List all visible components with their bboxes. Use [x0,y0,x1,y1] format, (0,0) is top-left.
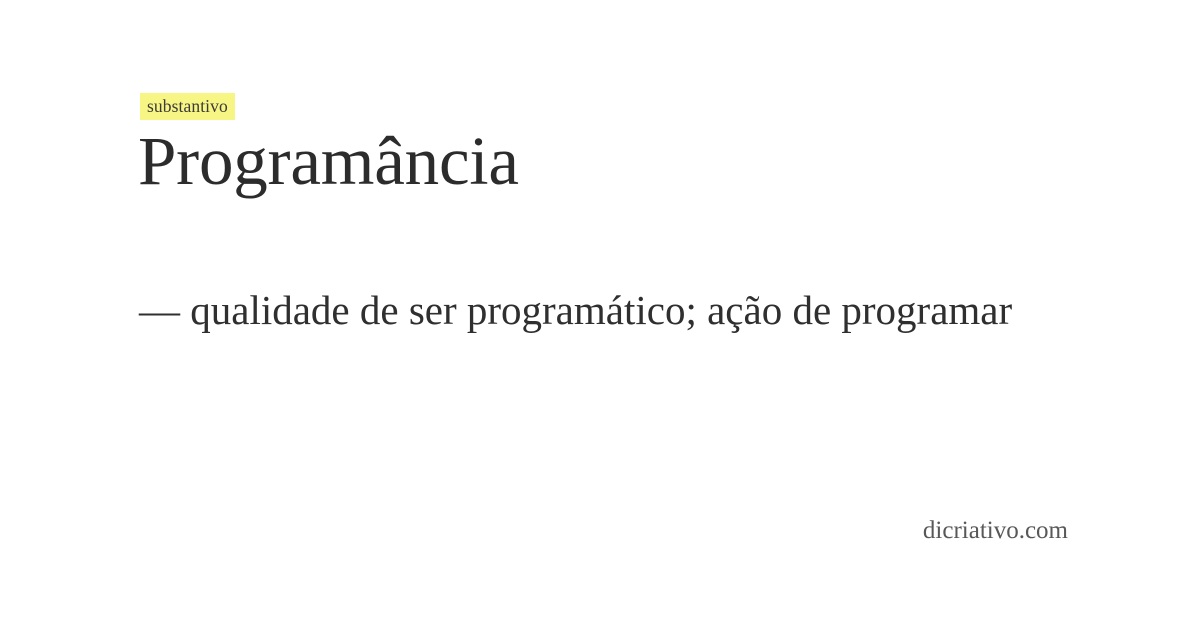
part-of-speech-row: substantivo [140,93,235,120]
definition-text: qualidade de ser programático; ação de p… [190,287,1012,333]
part-of-speech-badge: substantivo [140,93,235,120]
source-attribution: dicriativo.com [0,514,1068,548]
definition-dash: — [139,287,180,333]
dictionary-entry-card: substantivo Programância — qualidade de … [0,0,1200,620]
definition-block: — qualidade de ser programático; ação de… [139,272,1059,348]
headword-title: Programância [138,119,519,203]
